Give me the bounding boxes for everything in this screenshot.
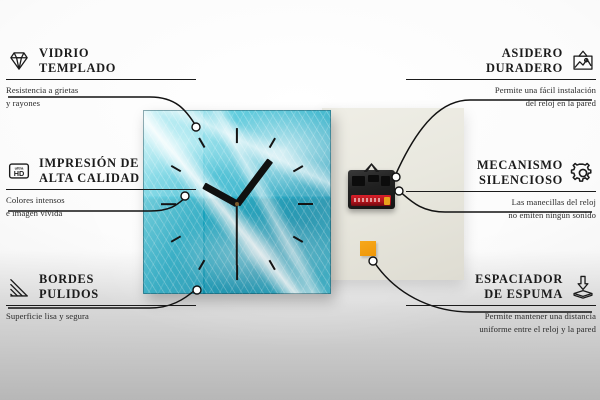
desc-line-2: e imagen vívida (6, 207, 196, 219)
mechanism-slot (368, 175, 379, 182)
feature-title: IMPRESIÓN DE ALTA CALIDAD (39, 156, 140, 187)
title-line-2: PULIDOS (39, 287, 99, 302)
feature-header: BORDES PULIDOS (6, 272, 196, 303)
desc-line-1: Resistencia a grietas (6, 84, 196, 96)
feature-header: VIDRIO TEMPLADO (6, 46, 196, 77)
feature-divider (6, 79, 196, 81)
feature-espaciador-espuma: ESPACIADOR DE ESPUMA Permite mantener un… (406, 272, 596, 335)
feature-description: Resistencia a grietas y rayones (6, 84, 196, 108)
feature-title: ESPACIADOR DE ESPUMA (475, 272, 563, 303)
gear-icon (570, 160, 596, 186)
feature-header: ASIDERO DURADERO (406, 46, 596, 77)
mechanism-slot (352, 176, 365, 186)
desc-line-1: Permite mantener una distancia (406, 310, 596, 322)
feature-header: ultra HD IMPRESIÓN DE ALTA CALIDAD (6, 156, 196, 187)
feature-description: Permite una fácil instalación del reloj … (406, 84, 596, 108)
mechanism-slot (381, 176, 390, 186)
diamond-icon (6, 48, 32, 74)
foam-spacer (360, 241, 376, 256)
feature-title: ASIDERO DURADERO (486, 46, 563, 77)
feature-impresion-alta-calidad: ultra HD IMPRESIÓN DE ALTA CALIDAD Color… (6, 156, 196, 219)
title-line-1: MECANISMO (477, 158, 563, 172)
title-line-1: IMPRESIÓN DE (39, 156, 139, 170)
title-line-1: ASIDERO (502, 46, 563, 60)
desc-line-1: Colores intensos (6, 194, 196, 206)
ultra-hd-icon-bottom-text: HD (14, 169, 25, 178)
ultra-hd-icon: ultra HD (6, 158, 32, 184)
feature-asidero-duradero: ASIDERO DURADERO Permite una fácil insta… (406, 46, 596, 109)
battery-label (354, 198, 380, 202)
foam-spacer-arrow-icon (570, 274, 596, 300)
feature-header: MECANISMO SILENCIOSO (406, 158, 596, 189)
feature-header: ESPACIADOR DE ESPUMA (406, 272, 596, 303)
feature-description: Las manecillas del reloj no emiten ningú… (406, 196, 596, 220)
polished-edges-icon (6, 274, 32, 300)
desc-line-2: y rayones (6, 97, 196, 109)
feature-bordes-pulidos: BORDES PULIDOS Superficie lisa y segura (6, 272, 196, 323)
feature-divider (406, 305, 596, 307)
feature-title: MECANISMO SILENCIOSO (477, 158, 563, 189)
desc-line-1: Superficie lisa y segura (6, 310, 196, 322)
title-line-2: DURADERO (486, 61, 563, 76)
title-line-1: ESPACIADOR (475, 272, 563, 286)
feature-divider (406, 79, 596, 81)
feature-divider (6, 305, 196, 307)
clock-mechanism (348, 170, 395, 209)
infographic-stage: VIDRIO TEMPLADO Resistencia a grietas y … (0, 0, 600, 400)
desc-line-2: no emiten ningún sonido (406, 209, 596, 221)
feature-title: BORDES PULIDOS (39, 272, 99, 303)
feature-title: VIDRIO TEMPLADO (39, 46, 116, 77)
title-line-2: ALTA CALIDAD (39, 171, 140, 186)
feature-mecanismo-silencioso: MECANISMO SILENCIOSO Las manecillas del … (406, 158, 596, 221)
battery (351, 195, 391, 206)
desc-line-1: Permite una fácil instalación (406, 84, 596, 96)
feature-description: Colores intensos e imagen vívida (6, 194, 196, 218)
desc-line-2: uniforme entre el reloj y la pared (406, 323, 596, 335)
title-line-1: BORDES (39, 272, 94, 286)
feature-divider (406, 191, 596, 193)
title-line-2: TEMPLADO (39, 61, 116, 76)
picture-hanger-icon (570, 48, 596, 74)
title-line-1: VIDRIO (39, 46, 89, 60)
feature-divider (6, 189, 196, 191)
feature-description: Superficie lisa y segura (6, 310, 196, 322)
title-line-2: DE ESPUMA (475, 287, 563, 302)
feature-vidrio-templado: VIDRIO TEMPLADO Resistencia a grietas y … (6, 46, 196, 109)
title-line-2: SILENCIOSO (477, 173, 563, 188)
desc-line-1: Las manecillas del reloj (406, 196, 596, 208)
feature-description: Permite mantener una distancia uniforme … (406, 310, 596, 334)
desc-line-2: del reloj en la pared (406, 97, 596, 109)
battery-positive-terminal (384, 197, 390, 205)
